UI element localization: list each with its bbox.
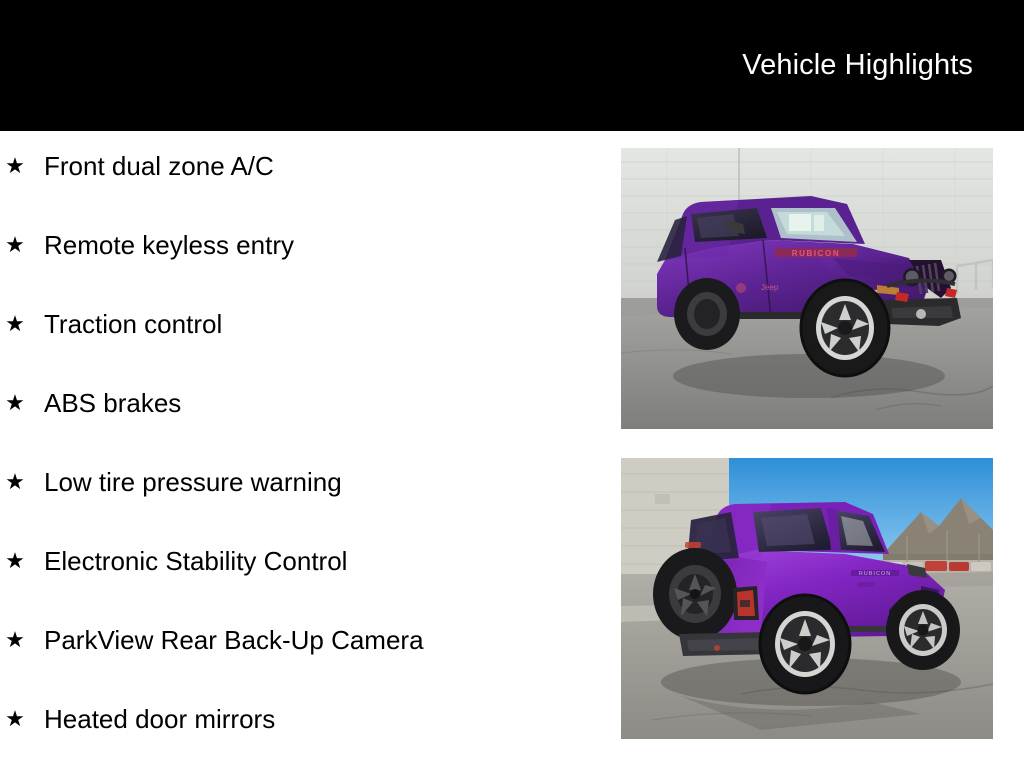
vehicle-photo-front[interactable]: RUBICON Jeep [621, 148, 993, 429]
star-icon: ★ [0, 546, 30, 576]
rubicon-decal: RUBICON [775, 248, 857, 258]
star-icon: ★ [0, 704, 30, 734]
star-icon: ★ [0, 151, 30, 181]
list-item: ★ Traction control [0, 289, 600, 368]
feature-label: Front dual zone A/C [30, 151, 274, 181]
vehicle-photo-rear[interactable]: RUBICON [621, 458, 993, 739]
list-item: ★ Electronic Stability Control [0, 526, 600, 605]
page-title: Vehicle Highlights [742, 51, 973, 80]
star-icon: ★ [0, 230, 30, 260]
feature-label: ParkView Rear Back-Up Camera [30, 625, 424, 655]
star-icon: ★ [0, 309, 30, 339]
svg-text:RUBICON: RUBICON [859, 571, 891, 577]
header-bar: Vehicle Highlights [0, 0, 1024, 131]
vehicle-rear-illustration: RUBICON [621, 458, 993, 739]
star-icon: ★ [0, 625, 30, 655]
feature-label: Traction control [30, 309, 222, 339]
vehicle-highlights-list: ★ Front dual zone A/C ★ Remote keyless e… [0, 131, 600, 763]
list-item: ★ ParkView Rear Back-Up Camera [0, 605, 600, 684]
feature-label: Low tire pressure warning [30, 467, 342, 497]
list-item: ★ Front dual zone A/C [0, 131, 600, 210]
jeep-badge: Jeep [761, 283, 779, 292]
feature-label: Remote keyless entry [30, 230, 294, 260]
vehicle-front-illustration: RUBICON Jeep [621, 148, 993, 429]
feature-label: ABS brakes [30, 388, 181, 418]
rubicon-side-decal: RUBICON [851, 570, 899, 577]
star-icon: ★ [0, 467, 30, 497]
list-item: ★ Low tire pressure warning [0, 447, 600, 526]
list-item: ★ Heated door mirrors [0, 684, 600, 763]
svg-text:RUBICON: RUBICON [792, 249, 841, 258]
star-icon: ★ [0, 388, 30, 418]
feature-label: Heated door mirrors [30, 704, 275, 734]
list-item: ★ ABS brakes [0, 368, 600, 447]
list-item: ★ Remote keyless entry [0, 210, 600, 289]
feature-label: Electronic Stability Control [30, 546, 347, 576]
content-area: ★ Front dual zone A/C ★ Remote keyless e… [0, 131, 1024, 768]
